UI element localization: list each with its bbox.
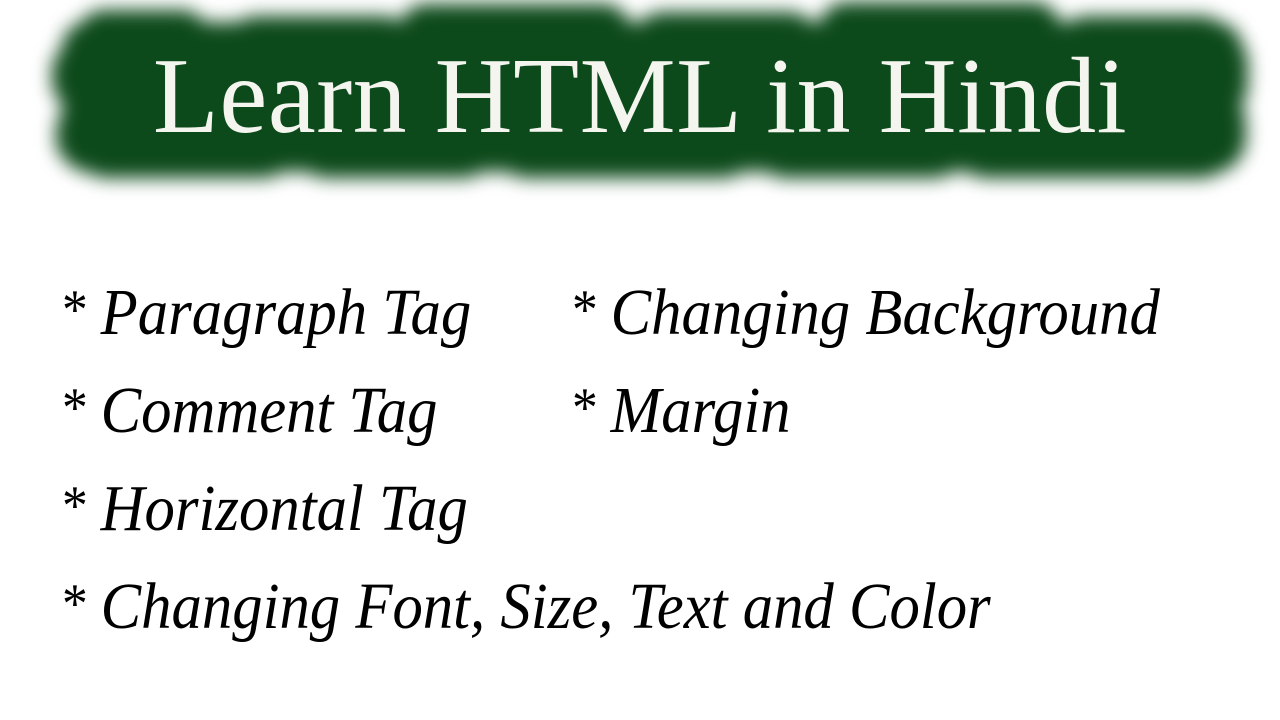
slide-canvas: Learn HTML in Hindi *Paragraph Tag *Chan… bbox=[0, 0, 1280, 720]
list-item: *Comment Tag bbox=[62, 378, 437, 444]
asterisk-bullet-icon: * bbox=[62, 478, 101, 534]
list-item: *Margin bbox=[572, 378, 791, 444]
asterisk-bullet-icon: * bbox=[62, 380, 101, 436]
bullet-row: *Horizontal Tag bbox=[0, 464, 1280, 562]
list-item-label: Horizontal Tag bbox=[101, 476, 468, 542]
list-item-label: Paragraph Tag bbox=[101, 280, 472, 346]
bullet-row: *Changing Font, Size, Text and Color bbox=[0, 562, 1280, 660]
title-banner: Learn HTML in Hindi bbox=[0, 0, 1280, 200]
list-item: *Paragraph Tag bbox=[62, 280, 471, 346]
list-item: *Horizontal Tag bbox=[62, 476, 468, 542]
list-item-label: Margin bbox=[611, 378, 791, 444]
bullet-list: *Paragraph Tag *Changing Background *Com… bbox=[0, 268, 1280, 660]
asterisk-bullet-icon: * bbox=[62, 282, 101, 338]
list-item-label: Comment Tag bbox=[101, 378, 438, 444]
list-item-label: Changing Font, Size, Text and Color bbox=[101, 574, 991, 640]
asterisk-bullet-icon: * bbox=[572, 282, 611, 338]
asterisk-bullet-icon: * bbox=[62, 576, 101, 632]
slide-title: Learn HTML in Hindi bbox=[0, 0, 1280, 200]
bullet-row: *Paragraph Tag *Changing Background bbox=[0, 268, 1280, 366]
asterisk-bullet-icon: * bbox=[572, 380, 611, 436]
list-item: *Changing Background bbox=[572, 280, 1160, 346]
bullet-row: *Comment Tag *Margin bbox=[0, 366, 1280, 464]
list-item: *Changing Font, Size, Text and Color bbox=[62, 574, 991, 640]
list-item-label: Changing Background bbox=[611, 280, 1160, 346]
